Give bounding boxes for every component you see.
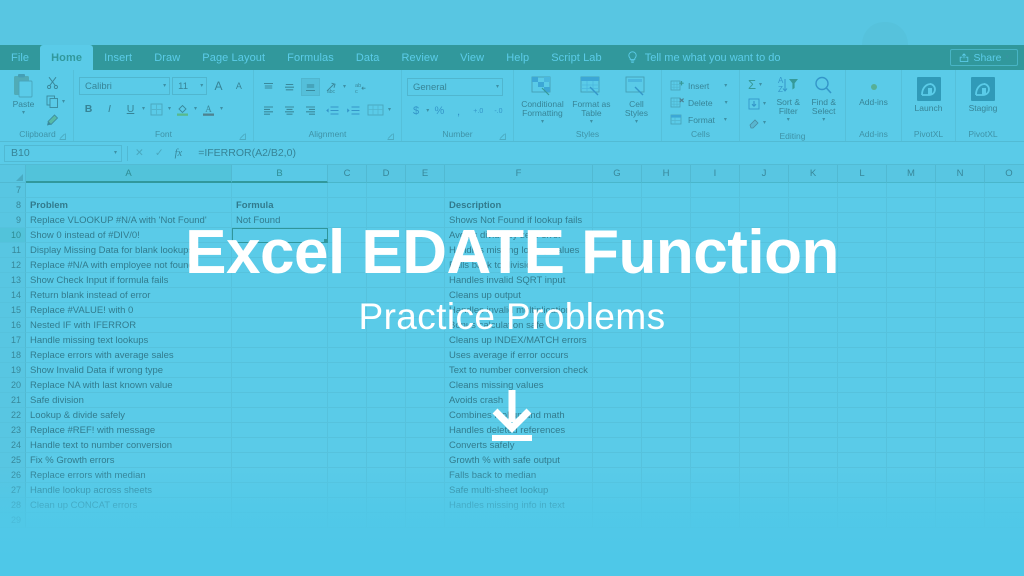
cell-M22[interactable] (887, 408, 936, 423)
cell-J23[interactable] (740, 423, 789, 438)
orientation-button[interactable]: abc (322, 78, 341, 96)
cell-L13[interactable] (838, 273, 887, 288)
cell-H29[interactable] (642, 513, 691, 528)
grid-row-24[interactable]: 24Handle text to number conversionConver… (0, 438, 1024, 453)
name-box[interactable]: B10 ▾ (4, 145, 122, 162)
enter-formula-button[interactable]: ✓ (155, 147, 164, 159)
cell-E22[interactable] (406, 408, 445, 423)
cell-O26[interactable] (985, 468, 1024, 483)
cell-E18[interactable] (406, 348, 445, 363)
cell-L18[interactable] (838, 348, 887, 363)
cell-E29[interactable] (406, 513, 445, 528)
cell-D29[interactable] (367, 513, 406, 528)
cell-H21[interactable] (642, 393, 691, 408)
cell-A9[interactable]: Replace VLOOKUP #N/A with 'Not Found' (26, 213, 232, 228)
cell-D23[interactable] (367, 423, 406, 438)
column-header-d[interactable]: D (367, 165, 406, 183)
cell-A21[interactable]: Safe division (26, 393, 232, 408)
row-header-14[interactable]: 14 (0, 288, 26, 303)
grid-row-12[interactable]: 12Replace #N/A with employee not foundFa… (0, 258, 1024, 273)
cell-I18[interactable] (691, 348, 740, 363)
cell-L17[interactable] (838, 333, 887, 348)
cell-N7[interactable] (936, 183, 985, 198)
cell-M17[interactable] (887, 333, 936, 348)
cell-L29[interactable] (838, 513, 887, 528)
cell-L20[interactable] (838, 378, 887, 393)
cell-F21[interactable]: Avoids crash (445, 393, 593, 408)
cell-M27[interactable] (887, 483, 936, 498)
cell-B21[interactable] (232, 393, 328, 408)
cell-L24[interactable] (838, 438, 887, 453)
cell-L21[interactable] (838, 393, 887, 408)
cell-C9[interactable] (328, 213, 367, 228)
cell-C10[interactable] (328, 228, 367, 243)
cell-O29[interactable] (985, 513, 1024, 528)
clear-button[interactable]: ▾ (745, 114, 769, 131)
cell-N29[interactable] (936, 513, 985, 528)
column-header-b[interactable]: B (232, 165, 328, 183)
fill-button[interactable]: ▾ (745, 95, 769, 112)
row-header-27[interactable]: 27 (0, 483, 26, 498)
cell-O15[interactable] (985, 303, 1024, 318)
cell-H22[interactable] (642, 408, 691, 423)
cell-M8[interactable] (887, 198, 936, 213)
cell-F8[interactable]: Description (445, 198, 593, 213)
underline-button[interactable]: U (121, 100, 140, 118)
cell-E21[interactable] (406, 393, 445, 408)
cell-K28[interactable] (789, 498, 838, 513)
cell-I29[interactable] (691, 513, 740, 528)
cell-G8[interactable] (593, 198, 642, 213)
cell-N24[interactable] (936, 438, 985, 453)
cell-B27[interactable] (232, 483, 328, 498)
cell-B25[interactable] (232, 453, 328, 468)
column-header-k[interactable]: K (789, 165, 838, 183)
grid-row-20[interactable]: 20Replace NA with last known valueCleans… (0, 378, 1024, 393)
cell-C18[interactable] (328, 348, 367, 363)
spreadsheet-grid[interactable]: A B C D E F G H I J K L M N O 78ProblemF… (0, 165, 1024, 528)
cell-N15[interactable] (936, 303, 985, 318)
cell-D9[interactable] (367, 213, 406, 228)
cell-D25[interactable] (367, 453, 406, 468)
cell-N28[interactable] (936, 498, 985, 513)
column-header-e[interactable]: E (406, 165, 445, 183)
cell-O28[interactable] (985, 498, 1024, 513)
increase-decimal-button[interactable]: +.0 (469, 102, 488, 120)
pivotxl-staging-button[interactable]: Staging (961, 75, 1005, 113)
cell-A16[interactable]: Nested IF with IFERROR (26, 318, 232, 333)
cell-C26[interactable] (328, 468, 367, 483)
cell-F13[interactable]: Handles invalid SQRT input (445, 273, 593, 288)
row-header-26[interactable]: 26 (0, 468, 26, 483)
cell-L22[interactable] (838, 408, 887, 423)
increase-indent-button[interactable] (343, 101, 362, 119)
cell-N9[interactable] (936, 213, 985, 228)
cell-D27[interactable] (367, 483, 406, 498)
pivotxl-launch-button[interactable]: Launch (907, 75, 950, 113)
cell-H19[interactable] (642, 363, 691, 378)
cell-E16[interactable] (406, 318, 445, 333)
cell-L14[interactable] (838, 288, 887, 303)
cell-B17[interactable] (232, 333, 328, 348)
cell-J24[interactable] (740, 438, 789, 453)
cell-M18[interactable] (887, 348, 936, 363)
column-header-o[interactable]: O (985, 165, 1024, 183)
cell-L25[interactable] (838, 453, 887, 468)
cell-D8[interactable] (367, 198, 406, 213)
delete-cells-button[interactable]: Delete ▾ (667, 94, 734, 111)
grid-row-8[interactable]: 8ProblemFormulaDescription (0, 198, 1024, 213)
orientation-caret-icon[interactable]: ▾ (343, 84, 346, 90)
cell-I22[interactable] (691, 408, 740, 423)
cell-C28[interactable] (328, 498, 367, 513)
cell-M24[interactable] (887, 438, 936, 453)
row-header-23[interactable]: 23 (0, 423, 26, 438)
cell-O19[interactable] (985, 363, 1024, 378)
cell-D28[interactable] (367, 498, 406, 513)
cell-G18[interactable] (593, 348, 642, 363)
cell-G9[interactable] (593, 213, 642, 228)
column-header-l[interactable]: L (838, 165, 887, 183)
number-format-select[interactable]: General ▾ (407, 78, 503, 96)
grow-font-button[interactable]: A (209, 77, 227, 95)
cell-I7[interactable] (691, 183, 740, 198)
cell-F7[interactable] (445, 183, 593, 198)
cell-I17[interactable] (691, 333, 740, 348)
grid-row-9[interactable]: 9Replace VLOOKUP #N/A with 'Not Found'No… (0, 213, 1024, 228)
cell-G20[interactable] (593, 378, 642, 393)
row-header-13[interactable]: 13 (0, 273, 26, 288)
cell-A28[interactable]: Clean up CONCAT errors (26, 498, 232, 513)
column-header-h[interactable]: H (642, 165, 691, 183)
select-all-corner[interactable] (0, 165, 26, 183)
cell-G11[interactable] (593, 243, 642, 258)
cell-K20[interactable] (789, 378, 838, 393)
conditional-formatting-button[interactable]: Conditional Formatting ▾ (519, 75, 566, 125)
cell-H25[interactable] (642, 453, 691, 468)
cell-F15[interactable]: Handles invalid multiplication (445, 303, 593, 318)
cell-F17[interactable]: Cleans up INDEX/MATCH errors (445, 333, 593, 348)
tab-home[interactable]: Home (40, 45, 93, 70)
cell-N13[interactable] (936, 273, 985, 288)
cell-J9[interactable] (740, 213, 789, 228)
cell-M11[interactable] (887, 243, 936, 258)
formula-bar[interactable]: B10 ▾ ✕ ✓ fx =IFERROR(A2/B2,0) (0, 142, 1024, 165)
cell-O9[interactable] (985, 213, 1024, 228)
cell-E25[interactable] (406, 453, 445, 468)
cell-N23[interactable] (936, 423, 985, 438)
cell-A29[interactable] (26, 513, 232, 528)
cell-K7[interactable] (789, 183, 838, 198)
cell-O23[interactable] (985, 423, 1024, 438)
cell-F23[interactable]: Handles deleted references (445, 423, 593, 438)
cell-L10[interactable] (838, 228, 887, 243)
cell-L9[interactable] (838, 213, 887, 228)
cell-B11[interactable] (232, 243, 328, 258)
row-header-25[interactable]: 25 (0, 453, 26, 468)
cell-A13[interactable]: Show Check Input if formula fails (26, 273, 232, 288)
cell-K27[interactable] (789, 483, 838, 498)
cell-E9[interactable] (406, 213, 445, 228)
paste-button[interactable]: Paste ▾ (7, 73, 40, 116)
cell-F27[interactable]: Safe multi-sheet lookup (445, 483, 593, 498)
tab-formulas[interactable]: Formulas (276, 45, 345, 70)
cell-L16[interactable] (838, 318, 887, 333)
cell-I16[interactable] (691, 318, 740, 333)
cell-D22[interactable] (367, 408, 406, 423)
grid-row-7[interactable]: 7 (0, 183, 1024, 198)
cell-H27[interactable] (642, 483, 691, 498)
grid-row-29[interactable]: 29 (0, 513, 1024, 528)
cell-N10[interactable] (936, 228, 985, 243)
insert-cells-button[interactable]: Insert ▾ (667, 77, 734, 94)
grid-row-26[interactable]: 26Replace errors with medianFalls back t… (0, 468, 1024, 483)
cell-O10[interactable] (985, 228, 1024, 243)
cell-I9[interactable] (691, 213, 740, 228)
cell-I25[interactable] (691, 453, 740, 468)
cell-B23[interactable] (232, 423, 328, 438)
cell-G26[interactable] (593, 468, 642, 483)
cell-G24[interactable] (593, 438, 642, 453)
cell-M23[interactable] (887, 423, 936, 438)
cell-B22[interactable] (232, 408, 328, 423)
cell-F25[interactable]: Growth % with safe output (445, 453, 593, 468)
cell-A12[interactable]: Replace #N/A with employee not found (26, 258, 232, 273)
row-header-7[interactable]: 7 (0, 183, 26, 198)
cell-I21[interactable] (691, 393, 740, 408)
cell-L27[interactable] (838, 483, 887, 498)
cell-N18[interactable] (936, 348, 985, 363)
cell-G27[interactable] (593, 483, 642, 498)
cell-K25[interactable] (789, 453, 838, 468)
cell-G25[interactable] (593, 453, 642, 468)
cell-E8[interactable] (406, 198, 445, 213)
grid-row-28[interactable]: 28Clean up CONCAT errorsHandles missing … (0, 498, 1024, 513)
cell-C25[interactable] (328, 453, 367, 468)
cell-G28[interactable] (593, 498, 642, 513)
cell-A7[interactable] (26, 183, 232, 198)
format-painter-button[interactable] (43, 112, 68, 129)
cell-C16[interactable] (328, 318, 367, 333)
cell-M7[interactable] (887, 183, 936, 198)
cell-E11[interactable] (406, 243, 445, 258)
cell-D15[interactable] (367, 303, 406, 318)
cell-H10[interactable] (642, 228, 691, 243)
cell-F20[interactable]: Cleans missing values (445, 378, 593, 393)
cell-O13[interactable] (985, 273, 1024, 288)
cell-G7[interactable] (593, 183, 642, 198)
find-select-button[interactable]: Find & Select ▾ (808, 75, 840, 123)
cell-C19[interactable] (328, 363, 367, 378)
cell-N11[interactable] (936, 243, 985, 258)
cell-K23[interactable] (789, 423, 838, 438)
cell-E28[interactable] (406, 498, 445, 513)
shrink-font-button[interactable]: A (230, 77, 248, 95)
column-header-i[interactable]: I (691, 165, 740, 183)
autosum-button[interactable]: Σ ▾ (745, 76, 769, 93)
cell-D11[interactable] (367, 243, 406, 258)
cell-H13[interactable] (642, 273, 691, 288)
comma-format-button[interactable]: , (449, 102, 467, 120)
cell-H23[interactable] (642, 423, 691, 438)
cell-N25[interactable] (936, 453, 985, 468)
cancel-formula-button[interactable]: ✕ (135, 147, 144, 159)
cell-C17[interactable] (328, 333, 367, 348)
cell-D21[interactable] (367, 393, 406, 408)
tab-review[interactable]: Review (390, 45, 449, 70)
grid-row-21[interactable]: 21Safe divisionAvoids crash (0, 393, 1024, 408)
cell-N8[interactable] (936, 198, 985, 213)
grid-row-19[interactable]: 19Show Invalid Data if wrong typeText to… (0, 363, 1024, 378)
cell-D14[interactable] (367, 288, 406, 303)
cell-E23[interactable] (406, 423, 445, 438)
cell-H16[interactable] (642, 318, 691, 333)
align-top-button[interactable] (259, 78, 278, 96)
cell-A18[interactable]: Replace errors with average sales (26, 348, 232, 363)
cell-E17[interactable] (406, 333, 445, 348)
cell-L26[interactable] (838, 468, 887, 483)
cell-O11[interactable] (985, 243, 1024, 258)
cell-I23[interactable] (691, 423, 740, 438)
cell-G19[interactable] (593, 363, 642, 378)
cell-M28[interactable] (887, 498, 936, 513)
cell-O16[interactable] (985, 318, 1024, 333)
alignment-dialog-launcher-icon[interactable] (387, 133, 394, 140)
cell-A14[interactable]: Return blank instead of error (26, 288, 232, 303)
cell-I10[interactable] (691, 228, 740, 243)
borders-button[interactable] (147, 100, 166, 118)
cell-D20[interactable] (367, 378, 406, 393)
cell-F9[interactable]: Shows Not Found if lookup fails (445, 213, 593, 228)
cell-J22[interactable] (740, 408, 789, 423)
wrap-text-button[interactable]: ab c (348, 78, 372, 96)
cell-N27[interactable] (936, 483, 985, 498)
cell-K17[interactable] (789, 333, 838, 348)
cell-K29[interactable] (789, 513, 838, 528)
cell-L23[interactable] (838, 423, 887, 438)
format-cells-button[interactable]: Format ▾ (667, 111, 734, 128)
fill-color-caret-icon[interactable]: ▾ (194, 106, 197, 112)
align-middle-button[interactable] (280, 78, 299, 96)
cell-A17[interactable]: Handle missing text lookups (26, 333, 232, 348)
cell-O14[interactable] (985, 288, 1024, 303)
cell-A24[interactable]: Handle text to number conversion (26, 438, 232, 453)
cell-A11[interactable]: Display Missing Data for blank lookups (26, 243, 232, 258)
cell-D16[interactable] (367, 318, 406, 333)
cell-J8[interactable] (740, 198, 789, 213)
sort-filter-button[interactable]: A Z Sort & Filter ▾ (772, 75, 804, 123)
cell-M26[interactable] (887, 468, 936, 483)
cell-B12[interactable] (232, 258, 328, 273)
cell-B20[interactable] (232, 378, 328, 393)
cell-K8[interactable] (789, 198, 838, 213)
cell-C21[interactable] (328, 393, 367, 408)
row-header-18[interactable]: 18 (0, 348, 26, 363)
cell-N21[interactable] (936, 393, 985, 408)
cell-M25[interactable] (887, 453, 936, 468)
number-dialog-launcher-icon[interactable] (499, 133, 506, 140)
cell-K21[interactable] (789, 393, 838, 408)
cell-I24[interactable] (691, 438, 740, 453)
row-header-12[interactable]: 12 (0, 258, 26, 273)
cell-C15[interactable] (328, 303, 367, 318)
align-bottom-button[interactable] (301, 78, 320, 96)
merge-caret-icon[interactable]: ▾ (388, 107, 391, 113)
cell-D7[interactable] (367, 183, 406, 198)
cell-O25[interactable] (985, 453, 1024, 468)
cell-H9[interactable] (642, 213, 691, 228)
italic-button[interactable]: I (100, 100, 119, 118)
grid-row-13[interactable]: 13Show Check Input if formula failsHandl… (0, 273, 1024, 288)
row-header-29[interactable]: 29 (0, 513, 26, 528)
cell-H18[interactable] (642, 348, 691, 363)
cell-F24[interactable]: Converts safely (445, 438, 593, 453)
clipboard-dialog-launcher-icon[interactable] (59, 133, 66, 140)
cell-E24[interactable] (406, 438, 445, 453)
cell-H14[interactable] (642, 288, 691, 303)
cell-H17[interactable] (642, 333, 691, 348)
align-center-button[interactable] (280, 101, 299, 119)
cell-H26[interactable] (642, 468, 691, 483)
font-color-caret-icon[interactable]: ▾ (220, 106, 223, 112)
cell-J16[interactable] (740, 318, 789, 333)
cell-O27[interactable] (985, 483, 1024, 498)
cell-A26[interactable]: Replace errors with median (26, 468, 232, 483)
cell-K16[interactable] (789, 318, 838, 333)
cell-G21[interactable] (593, 393, 642, 408)
cell-G12[interactable] (593, 258, 642, 273)
cell-H15[interactable] (642, 303, 691, 318)
row-header-10[interactable]: 10 (0, 228, 26, 243)
column-header-c[interactable]: C (328, 165, 367, 183)
cell-H20[interactable] (642, 378, 691, 393)
cell-E15[interactable] (406, 303, 445, 318)
grid-row-18[interactable]: 18Replace errors with average salesUses … (0, 348, 1024, 363)
cell-A25[interactable]: Fix % Growth errors (26, 453, 232, 468)
cell-A19[interactable]: Show Invalid Data if wrong type (26, 363, 232, 378)
cell-H12[interactable] (642, 258, 691, 273)
cell-K9[interactable] (789, 213, 838, 228)
row-header-20[interactable]: 20 (0, 378, 26, 393)
cell-G17[interactable] (593, 333, 642, 348)
grid-row-11[interactable]: 11Display Missing Data for blank lookups… (0, 243, 1024, 258)
grid-row-27[interactable]: 27Handle lookup across sheetsSafe multi-… (0, 483, 1024, 498)
share-button[interactable]: Share ˅ (950, 49, 1018, 66)
cell-E19[interactable] (406, 363, 445, 378)
tab-help[interactable]: Help (495, 45, 540, 70)
cell-L12[interactable] (838, 258, 887, 273)
cell-K12[interactable] (789, 258, 838, 273)
cell-F14[interactable]: Cleans up output (445, 288, 593, 303)
cell-J15[interactable] (740, 303, 789, 318)
cell-N14[interactable] (936, 288, 985, 303)
row-header-22[interactable]: 22 (0, 408, 26, 423)
cell-D24[interactable] (367, 438, 406, 453)
cell-A22[interactable]: Lookup & divide safely (26, 408, 232, 423)
cell-A27[interactable]: Handle lookup across sheets (26, 483, 232, 498)
cell-B7[interactable] (232, 183, 328, 198)
row-header-16[interactable]: 16 (0, 318, 26, 333)
cell-I26[interactable] (691, 468, 740, 483)
column-header-j[interactable]: J (740, 165, 789, 183)
cell-K15[interactable] (789, 303, 838, 318)
cell-F29[interactable] (445, 513, 593, 528)
cell-C14[interactable] (328, 288, 367, 303)
cell-K19[interactable] (789, 363, 838, 378)
grid-row-23[interactable]: 23Replace #REF! with messageHandles dele… (0, 423, 1024, 438)
cell-J12[interactable] (740, 258, 789, 273)
cell-O21[interactable] (985, 393, 1024, 408)
